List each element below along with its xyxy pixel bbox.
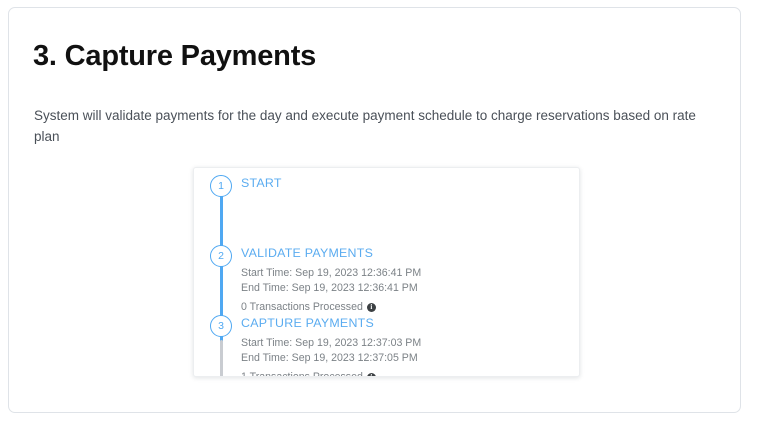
- step-body: VALIDATE PAYMENTS Start Time: Sep 19, 20…: [241, 245, 571, 315]
- step-transactions-count: 1 Transactions Processed: [241, 370, 363, 377]
- step-transactions-count: 0 Transactions Processed: [241, 300, 363, 315]
- step-transactions-row: 1 Transactions Processed i: [241, 370, 571, 377]
- timeline: 1 START 2 VALIDATE PAYMENTS Start Time: …: [194, 168, 579, 376]
- timeline-card: 1 START 2 VALIDATE PAYMENTS Start Time: …: [193, 167, 580, 377]
- step-number-badge: 3: [210, 315, 232, 337]
- step-number-badge: 1: [210, 175, 232, 197]
- step-start-time: Start Time: Sep 19, 2023 12:37:03 PM: [241, 336, 571, 351]
- step-number-badge: 2: [210, 245, 232, 267]
- step-body: CAPTURE PAYMENTS Start Time: Sep 19, 202…: [241, 315, 571, 377]
- info-icon[interactable]: i: [367, 373, 376, 377]
- step-end-time: End Time: Sep 19, 2023 12:37:05 PM: [241, 351, 571, 366]
- step-meta: Start Time: Sep 19, 2023 12:37:03 PM End…: [241, 336, 571, 377]
- step-end-time: End Time: Sep 19, 2023 12:36:41 PM: [241, 281, 571, 296]
- step-title: CAPTURE PAYMENTS: [241, 315, 571, 331]
- page-title: 3. Capture Payments: [33, 40, 316, 73]
- step-title: START: [241, 175, 571, 191]
- step-body: START: [241, 175, 571, 191]
- step-transactions-row: 0 Transactions Processed i: [241, 300, 571, 315]
- info-icon[interactable]: i: [367, 303, 376, 312]
- step-meta: Start Time: Sep 19, 2023 12:36:41 PM End…: [241, 266, 571, 315]
- step-title: VALIDATE PAYMENTS: [241, 245, 571, 261]
- step-start-time: Start Time: Sep 19, 2023 12:36:41 PM: [241, 266, 571, 281]
- page-frame: 3. Capture Payments System will validate…: [8, 7, 741, 413]
- timeline-connector-pending: [220, 340, 223, 377]
- page-subtitle: System will validate payments for the da…: [34, 105, 724, 147]
